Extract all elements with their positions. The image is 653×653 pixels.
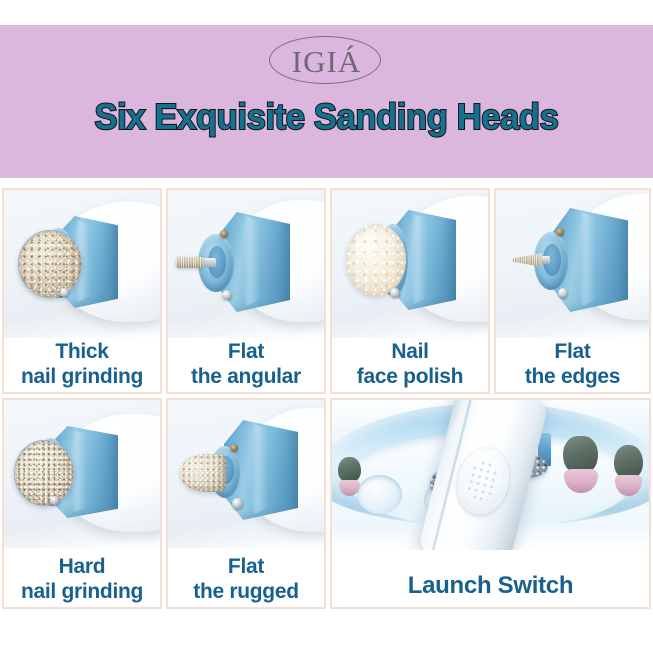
logo-text: IGIÁ: [292, 46, 361, 79]
product-photo-flat-the-edges: [496, 190, 649, 338]
cell-flat-the-rugged: Flat the rugged: [166, 398, 326, 609]
attachment-grid: Thick nail grinding Fla: [0, 186, 653, 613]
product-photo-nail-face-polish: [332, 190, 488, 338]
caption-line-2: nail grinding: [4, 364, 160, 389]
caption-line-2: nail grinding: [4, 579, 160, 604]
launch-switch-button[interactable]: [450, 443, 514, 520]
caption-flat-the-angular: Flat the angular: [168, 339, 324, 389]
product-photo-flat-the-angular: [168, 190, 324, 338]
cell-thick-nail-grinding: Thick nail grinding: [2, 188, 162, 394]
cell-nail-face-polish: Nail face polish: [330, 188, 490, 394]
cell-flat-the-angular: Flat the angular: [166, 188, 326, 394]
caption-line-1: Nail: [391, 340, 428, 363]
cell-flat-the-edges: Flat the edges: [494, 188, 651, 394]
caption-line-1: Flat: [228, 340, 264, 363]
cell-launch-switch: Launch Switch: [330, 398, 651, 609]
caption-line-1: Launch Switch: [408, 572, 573, 599]
product-photo-thick-nail-grinding: [4, 190, 160, 338]
product-photo-launch-switch: [332, 400, 649, 550]
product-photo-hard-nail-grinding: [4, 400, 160, 548]
caption-launch-switch: Launch Switch: [332, 573, 649, 598]
caption-line-2: face polish: [332, 364, 488, 389]
caption-line-2: the angular: [168, 364, 324, 389]
product-photo-flat-the-rugged: [168, 400, 324, 548]
caption-thick-nail-grinding: Thick nail grinding: [4, 339, 160, 389]
page-title: Six Exquisite Sanding Heads: [13, 97, 640, 137]
header-banner: IGIÁ Six Exquisite Sanding Heads: [0, 25, 653, 178]
product-infographic: IGIÁ Six Exquisite Sanding Heads Thick n…: [0, 0, 653, 653]
caption-hard-nail-grinding: Hard nail grinding: [4, 554, 160, 604]
caption-line-1: Thick: [55, 340, 108, 363]
caption-line-2: the rugged: [168, 579, 324, 604]
brand-logo: IGIÁ: [269, 36, 385, 88]
caption-flat-the-edges: Flat the edges: [496, 339, 649, 389]
caption-flat-the-rugged: Flat the rugged: [168, 554, 324, 604]
caption-line-2: the edges: [496, 364, 649, 389]
cell-hard-nail-grinding: Hard nail grinding: [2, 398, 162, 609]
caption-nail-face-polish: Nail face polish: [332, 339, 488, 389]
caption-line-1: Hard: [59, 555, 106, 578]
caption-line-1: Flat: [228, 555, 264, 578]
caption-line-1: Flat: [554, 340, 590, 363]
